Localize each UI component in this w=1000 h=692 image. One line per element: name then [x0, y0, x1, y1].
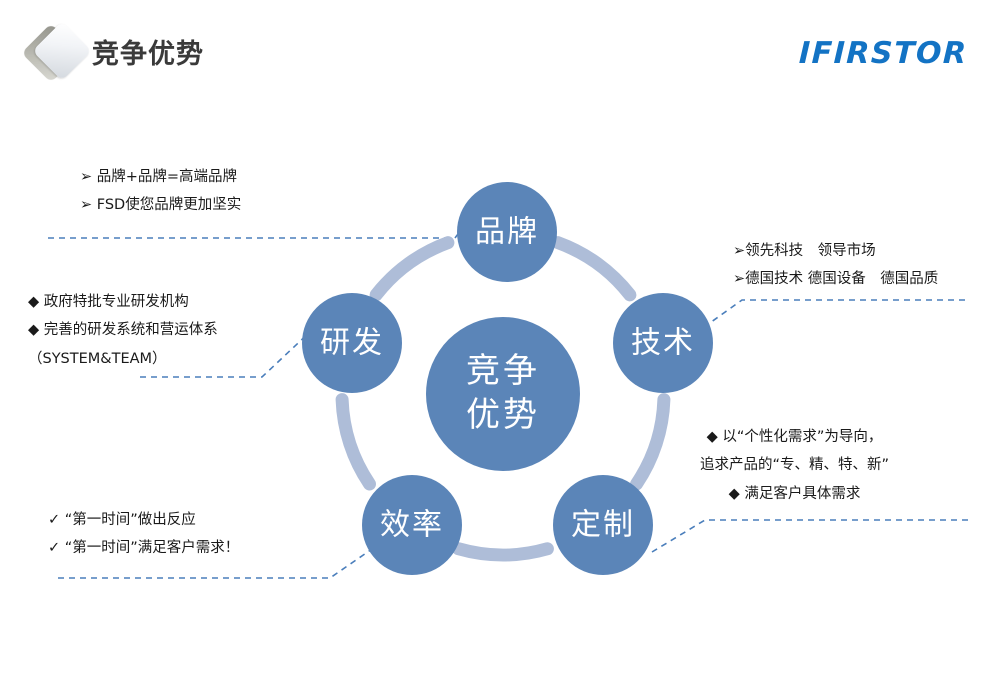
callout-custom-line-1: ◆ 以“个性化需求”为导向，: [700, 423, 889, 451]
connector-technology: [700, 300, 965, 330]
node-label-technology: 技术: [631, 326, 695, 361]
diamond-logo-icon: [30, 28, 84, 82]
ring-arc-segment: [637, 400, 664, 484]
callout-research-line-2: ◆ 完善的研发系统和营运体系: [28, 316, 218, 344]
slide-header: 竞争优势 IFIRSTOR: [0, 0, 1000, 100]
callout-brand: ➢ 品牌+品牌=高端品牌 ➢ FSD使您品牌更加坚实: [80, 163, 241, 220]
ring-arc-segment: [342, 400, 369, 484]
callout-technology-line-2: ➢德国技术 德国设备 德国品质: [733, 265, 938, 293]
callout-custom-line-3: ◆ 满足客户具体需求: [700, 480, 889, 508]
slide-competitive-advantage: 竞争优势 IFIRSTOR 品牌技术定制效率研发 竞争: [0, 0, 1000, 692]
ring-arc-segment: [558, 243, 630, 295]
callout-brand-line-1: ➢ 品牌+品牌=高端品牌: [80, 163, 241, 191]
center-node[interactable]: 竞争 优势: [426, 317, 580, 471]
diagram-node-research[interactable]: 研发: [302, 293, 402, 393]
callout-efficiency: ✓ “第一时间”做出反应 ✓ “第一时间”满足客户需求！: [48, 506, 239, 563]
center-label-line2: 优势: [466, 395, 540, 435]
callout-efficiency-line-2: ✓ “第一时间”满足客户需求！: [48, 534, 239, 562]
brand-wordmark: IFIRSTOR: [799, 36, 969, 71]
callout-brand-line-2: ➢ FSD使您品牌更加坚实: [80, 191, 241, 219]
ring-arc-segment: [376, 243, 448, 295]
callout-custom: ◆ 以“个性化需求”为导向， 追求产品的“专、精、特、新” ◆ 满足客户具体需求: [700, 423, 889, 508]
callout-technology-line-1: ➢领先科技 领导市场: [733, 237, 938, 265]
node-label-research: 研发: [320, 326, 384, 361]
callout-technology: ➢领先科技 领导市场 ➢德国技术 德国设备 德国品质: [733, 237, 938, 294]
competitive-advantage-diagram: 品牌技术定制效率研发 竞争 优势: [270, 150, 730, 610]
diagram-node-custom[interactable]: 定制: [553, 475, 653, 575]
center-label-line1: 竞争: [466, 351, 540, 391]
ring-arc-segment: [459, 549, 548, 555]
diagram-node-efficiency[interactable]: 效率: [362, 475, 462, 575]
callout-efficiency-line-1: ✓ “第一时间”做出反应: [48, 506, 239, 534]
callout-custom-line-2: 追求产品的“专、精、特、新”: [700, 451, 889, 479]
diagram-node-brand[interactable]: 品牌: [457, 182, 557, 282]
center-circle[interactable]: [426, 317, 580, 471]
node-label-custom: 定制: [571, 508, 635, 543]
page-title: 竞争优势: [92, 32, 204, 71]
callout-research-line-1: ◆ 政府特批专业研发机构: [28, 288, 218, 316]
node-label-efficiency: 效率: [380, 508, 444, 543]
diagram-node-technology[interactable]: 技术: [613, 293, 713, 393]
callout-research-line-3: （SYSTEM&TEAM）: [28, 345, 218, 373]
callout-research: ◆ 政府特批专业研发机构 ◆ 完善的研发系统和营运体系 （SYSTEM&TEAM…: [28, 288, 218, 373]
node-label-brand: 品牌: [475, 215, 539, 250]
